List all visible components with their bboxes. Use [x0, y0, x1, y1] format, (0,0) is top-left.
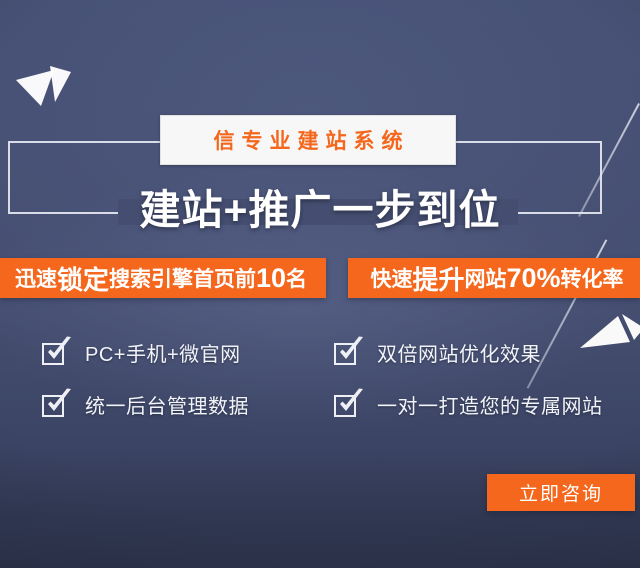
- promo-banner: 信专业建站系统 建站+推广一步到位 迅速 锁定 搜索引擎首页前 10 名 快速 …: [0, 0, 640, 568]
- badge-seo: 迅速 锁定 搜索引擎首页前 10 名: [0, 258, 326, 298]
- badge-conversion-part-4: 转化率: [561, 263, 624, 293]
- feature-label-0: PC+手机+微官网: [85, 338, 241, 367]
- feature-label-2: 统一后台管理数据: [85, 390, 249, 419]
- tag-badge: 信专业建站系统: [160, 115, 456, 165]
- checkbox-checked-icon: [42, 340, 68, 366]
- checkbox-checked-icon: [334, 340, 360, 366]
- badge-seo-part-4: 名: [286, 263, 307, 293]
- badge-conversion-part-1: 提升: [412, 260, 464, 297]
- consult-now-button[interactable]: 立即咨询: [487, 474, 635, 511]
- headline: 建站+推广一步到位: [0, 183, 640, 237]
- badge-conversion-part-2: 网站: [464, 263, 506, 293]
- badge-conversion-part-3: 70%: [506, 263, 560, 294]
- badge-conversion-part-0: 快速: [370, 263, 412, 293]
- feature-label-1: 双倍网站优化效果: [377, 338, 541, 367]
- feature-item-2: 统一后台管理数据: [42, 390, 249, 419]
- badge-seo-part-1: 锁定: [57, 260, 109, 297]
- checkbox-checked-icon: [334, 392, 360, 418]
- badge-seo-part-0: 迅速: [15, 263, 57, 293]
- badge-seo-part-3: 10: [256, 263, 286, 294]
- badge-conversion: 快速 提升 网站 70% 转化率: [348, 258, 640, 298]
- feature-item-1: 双倍网站优化效果: [334, 338, 541, 367]
- checkbox-checked-icon: [42, 392, 68, 418]
- feature-item-3: 一对一打造您的专属网站: [334, 390, 603, 419]
- tag-label: 信专业建站系统: [207, 125, 410, 155]
- badge-seo-part-2: 搜索引擎首页前: [109, 263, 256, 293]
- feature-label-3: 一对一打造您的专属网站: [377, 390, 603, 419]
- feature-item-0: PC+手机+微官网: [42, 338, 241, 367]
